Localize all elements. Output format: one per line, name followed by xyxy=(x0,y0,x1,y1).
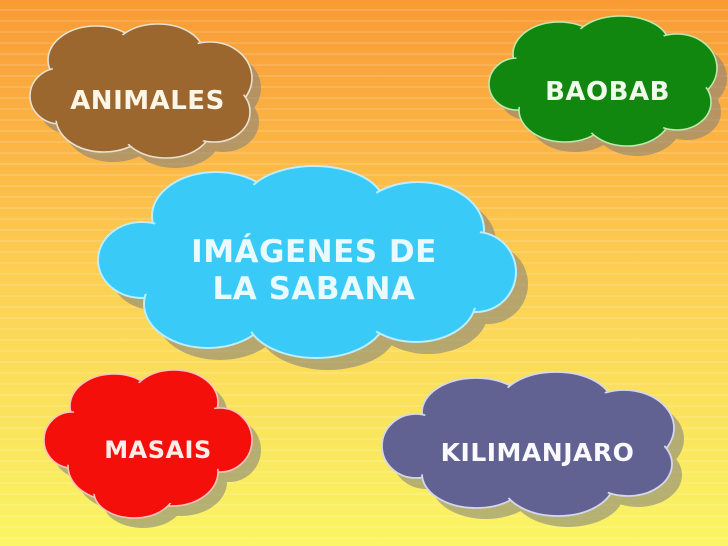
cloud-baobab-shape xyxy=(485,18,728,166)
cloud-masais[interactable]: MASAIS xyxy=(42,366,274,534)
cloud-kilimanjaro-shape xyxy=(380,370,695,535)
cloud-kilimanjaro[interactable]: KILIMANJARO xyxy=(380,370,695,535)
cloud-baobab[interactable]: BAOBAB xyxy=(485,18,728,166)
cloud-body xyxy=(30,24,252,158)
cloud-animales-shape xyxy=(30,26,265,176)
cloud-imagenes-de-la-sabana[interactable]: IMÁGENES DE LA SABANA xyxy=(98,168,530,373)
cloud-body xyxy=(382,372,674,516)
cloud-animales[interactable]: ANIMALES xyxy=(30,26,265,176)
cloud-body xyxy=(489,16,717,146)
cloud-masais-shape xyxy=(42,366,274,534)
slide-canvas: ANIMALES xyxy=(0,0,728,546)
cloud-body xyxy=(98,166,516,358)
cloud-imagenes-shape xyxy=(98,168,530,373)
